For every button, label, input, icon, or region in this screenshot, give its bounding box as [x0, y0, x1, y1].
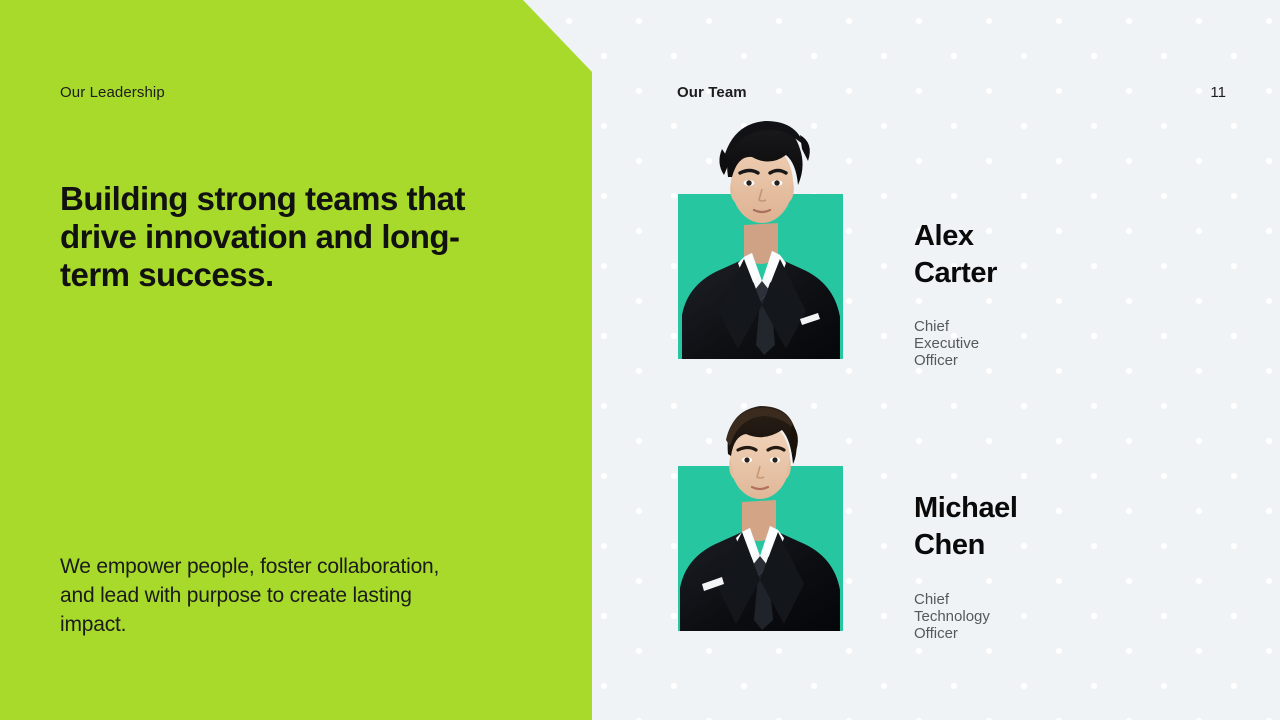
member-first-name: Michael [914, 492, 1018, 524]
page-title: Building strong teams that drive innovat… [60, 180, 510, 294]
right-section-eyebrow: Our Team [677, 84, 747, 101]
member-name: Alex Carter [914, 218, 1174, 292]
portrait-photo-michael-chen [678, 384, 843, 631]
left-body-paragraph: We empower people, foster collaboration,… [60, 552, 460, 639]
member-role: Chief Executive Officer [914, 318, 979, 369]
member-photo-block [678, 466, 843, 631]
slide-canvas: Our Leadership Building strong teams tha… [0, 0, 1280, 720]
member-last-name: Chen [914, 529, 985, 561]
member-photo-block [678, 194, 843, 359]
member-role: Chief Technology Officer [914, 591, 990, 642]
member-last-name: Carter [914, 257, 997, 289]
left-section-eyebrow: Our Leadership [60, 84, 165, 101]
member-name: Michael Chen [914, 490, 1174, 564]
slide-page-number: 11 [1210, 84, 1226, 101]
member-first-name: Alex [914, 220, 974, 252]
portrait-photo-alex-carter [678, 105, 843, 359]
